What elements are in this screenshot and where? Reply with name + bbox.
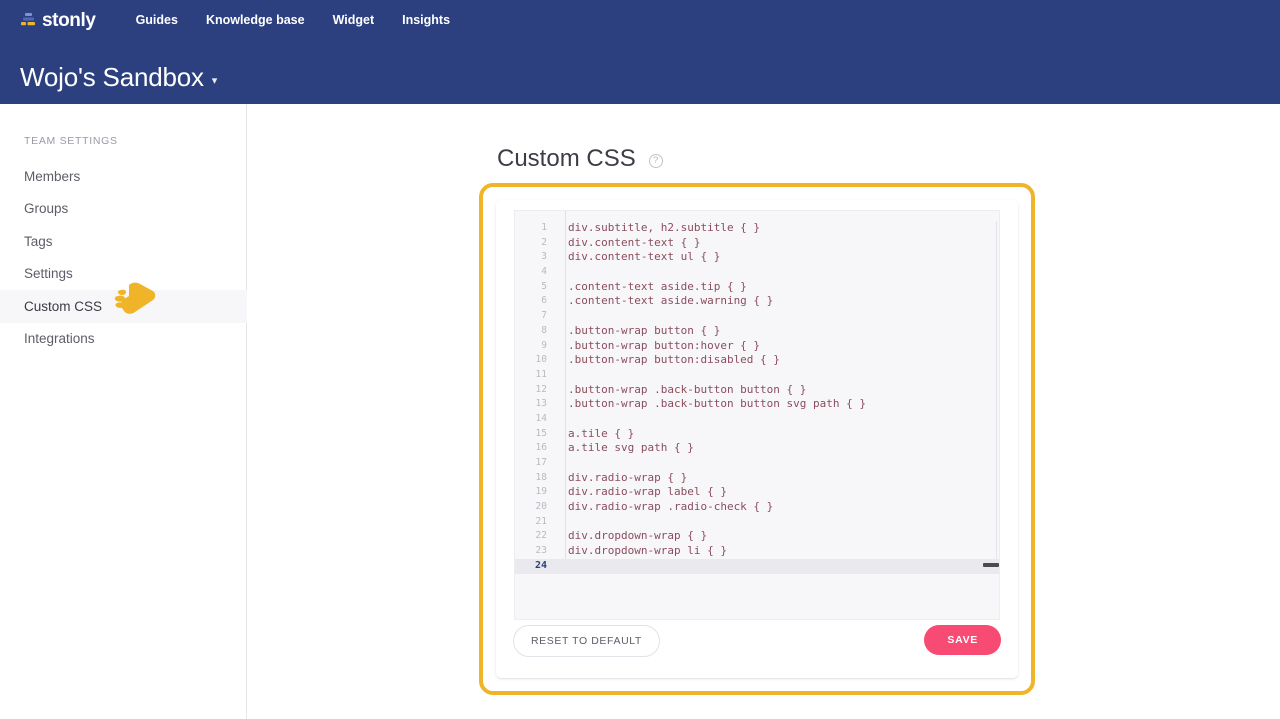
reset-to-default-button[interactable]: RESET TO DEFAULT <box>513 625 660 657</box>
sidebar-section-heading: TEAM SETTINGS <box>24 135 118 147</box>
nav-links: Guides Knowledge base Widget Insights <box>136 9 450 31</box>
line-number: 13 <box>515 397 557 412</box>
line-number: 24 <box>515 559 557 574</box>
line-number: 21 <box>515 515 557 530</box>
brand-name: stonly <box>42 11 96 30</box>
page-title-row: Custom CSS ? <box>497 145 663 173</box>
main-content: Custom CSS ? 1div.subtitle, h2.subtitle … <box>247 104 1280 719</box>
code-line[interactable]: 20div.radio-wrap .radio-check { } <box>515 500 999 515</box>
sidebar-item-members[interactable]: Members <box>0 160 247 193</box>
code-line[interactable]: 11 <box>515 368 999 383</box>
code-line[interactable]: 22div.dropdown-wrap { } <box>515 529 999 544</box>
line-content: div.radio-wrap .radio-check { } <box>557 500 773 515</box>
css-code-editor[interactable]: 1div.subtitle, h2.subtitle { } 2div.cont… <box>514 210 1000 620</box>
code-line[interactable]: 8.button-wrap button { } <box>515 324 999 339</box>
line-number: 18 <box>515 471 557 486</box>
stonly-logo-icon <box>20 12 37 29</box>
chevron-down-icon[interactable]: ▾ <box>212 74 218 87</box>
line-number: 12 <box>515 383 557 398</box>
code-line[interactable]: 13.button-wrap .back-button button svg p… <box>515 397 999 412</box>
code-line[interactable]: 23div.dropdown-wrap li { } <box>515 544 999 559</box>
line-number: 5 <box>515 280 557 295</box>
code-line[interactable]: 6.content-text aside.warning { } <box>515 294 999 309</box>
line-content: .content-text aside.warning { } <box>557 294 773 309</box>
line-number: 9 <box>515 339 557 354</box>
line-number: 15 <box>515 427 557 442</box>
line-number: 6 <box>515 294 557 309</box>
line-number: 19 <box>515 485 557 500</box>
code-line[interactable]: 17 <box>515 456 999 471</box>
nav-link-knowledge-base[interactable]: Knowledge base <box>206 9 305 31</box>
custom-css-card: 1div.subtitle, h2.subtitle { } 2div.cont… <box>496 200 1018 678</box>
primary-nav-row: stonly Guides Knowledge base Widget Insi… <box>0 0 1280 40</box>
line-content: a.tile svg path { } <box>557 441 694 456</box>
sidebar-item-label: Tags <box>24 234 53 249</box>
sidebar-item-groups[interactable]: Groups <box>0 193 247 226</box>
code-line[interactable]: 2div.content-text { } <box>515 236 999 251</box>
brand-logo[interactable]: stonly <box>20 11 96 30</box>
line-number: 20 <box>515 500 557 515</box>
sidebar-item-settings[interactable]: Settings <box>0 258 247 291</box>
line-number: 8 <box>515 324 557 339</box>
line-number: 14 <box>515 412 557 427</box>
line-number: 7 <box>515 309 557 324</box>
sidebar-item-label: Groups <box>24 201 68 216</box>
line-content: div.dropdown-wrap li { } <box>557 544 727 559</box>
sidebar-item-custom-css[interactable]: Custom CSS <box>0 290 247 323</box>
code-line[interactable]: 14 <box>515 412 999 427</box>
code-line[interactable]: 15a.tile { } <box>515 427 999 442</box>
sidebar-item-label: Integrations <box>24 331 95 346</box>
page-title: Custom CSS <box>497 145 636 173</box>
code-line[interactable]: 16a.tile svg path { } <box>515 441 999 456</box>
line-content: .button-wrap button:hover { } <box>557 339 760 354</box>
line-content: div.dropdown-wrap { } <box>557 529 707 544</box>
horizontal-scrollbar-thumb[interactable] <box>983 563 999 567</box>
settings-sidebar: TEAM SETTINGS Members Groups Tags Settin… <box>0 104 247 719</box>
line-content: a.tile { } <box>557 427 634 442</box>
save-button[interactable]: SAVE <box>924 625 1001 655</box>
code-line[interactable]: 4 <box>515 265 999 280</box>
code-line[interactable]: 21 <box>515 515 999 530</box>
code-line[interactable]: 10.button-wrap button:disabled { } <box>515 353 999 368</box>
line-content: div.radio-wrap label { } <box>557 485 727 500</box>
sidebar-item-label: Settings <box>24 266 73 281</box>
workspace-selector[interactable]: Wojo's Sandbox ▾ <box>0 52 1280 102</box>
top-header-bar: stonly Guides Knowledge base Widget Insi… <box>0 0 1280 104</box>
editor-actions: RESET TO DEFAULT SAVE <box>496 625 1018 665</box>
line-content: div.content-text ul { } <box>557 250 720 265</box>
code-line[interactable]: 7 <box>515 309 999 324</box>
code-line-active[interactable]: 24 <box>515 559 999 574</box>
line-number: 22 <box>515 529 557 544</box>
sidebar-nav-list: Members Groups Tags Settings Custom CSS … <box>0 160 247 355</box>
nav-link-insights[interactable]: Insights <box>402 9 450 31</box>
nav-link-guides[interactable]: Guides <box>136 9 178 31</box>
code-lines[interactable]: 1div.subtitle, h2.subtitle { } 2div.cont… <box>515 221 999 574</box>
line-content: div.content-text { } <box>557 236 700 251</box>
workspace-name: Wojo's Sandbox <box>20 62 204 93</box>
code-line[interactable]: 18div.radio-wrap { } <box>515 471 999 486</box>
help-icon[interactable]: ? <box>649 154 663 168</box>
line-number: 1 <box>515 221 557 236</box>
sidebar-item-integrations[interactable]: Integrations <box>0 323 247 356</box>
line-content: .button-wrap button { } <box>557 324 720 339</box>
code-line[interactable]: 5.content-text aside.tip { } <box>515 280 999 295</box>
code-line[interactable]: 19div.radio-wrap label { } <box>515 485 999 500</box>
line-number: 11 <box>515 368 557 383</box>
line-content: .button-wrap .back-button button svg pat… <box>557 397 866 412</box>
line-number: 16 <box>515 441 557 456</box>
code-line[interactable]: 3div.content-text ul { } <box>515 250 999 265</box>
line-content: div.subtitle, h2.subtitle { } <box>557 221 760 236</box>
line-number: 3 <box>515 250 557 265</box>
sidebar-item-label: Custom CSS <box>24 299 102 314</box>
nav-link-widget[interactable]: Widget <box>333 9 375 31</box>
code-line[interactable]: 12.button-wrap .back-button button { } <box>515 383 999 398</box>
code-line[interactable]: 1div.subtitle, h2.subtitle { } <box>515 221 999 236</box>
line-number: 10 <box>515 353 557 368</box>
line-content: .button-wrap .back-button button { } <box>557 383 806 398</box>
sidebar-item-tags[interactable]: Tags <box>0 225 247 258</box>
line-number: 23 <box>515 544 557 559</box>
line-content: .button-wrap button:disabled { } <box>557 353 780 368</box>
code-line[interactable]: 9.button-wrap button:hover { } <box>515 339 999 354</box>
line-content: div.radio-wrap { } <box>557 471 687 486</box>
line-content: .content-text aside.tip { } <box>557 280 747 295</box>
sidebar-item-label: Members <box>24 169 80 184</box>
line-number: 17 <box>515 456 557 471</box>
line-number: 4 <box>515 265 557 280</box>
line-number: 2 <box>515 236 557 251</box>
